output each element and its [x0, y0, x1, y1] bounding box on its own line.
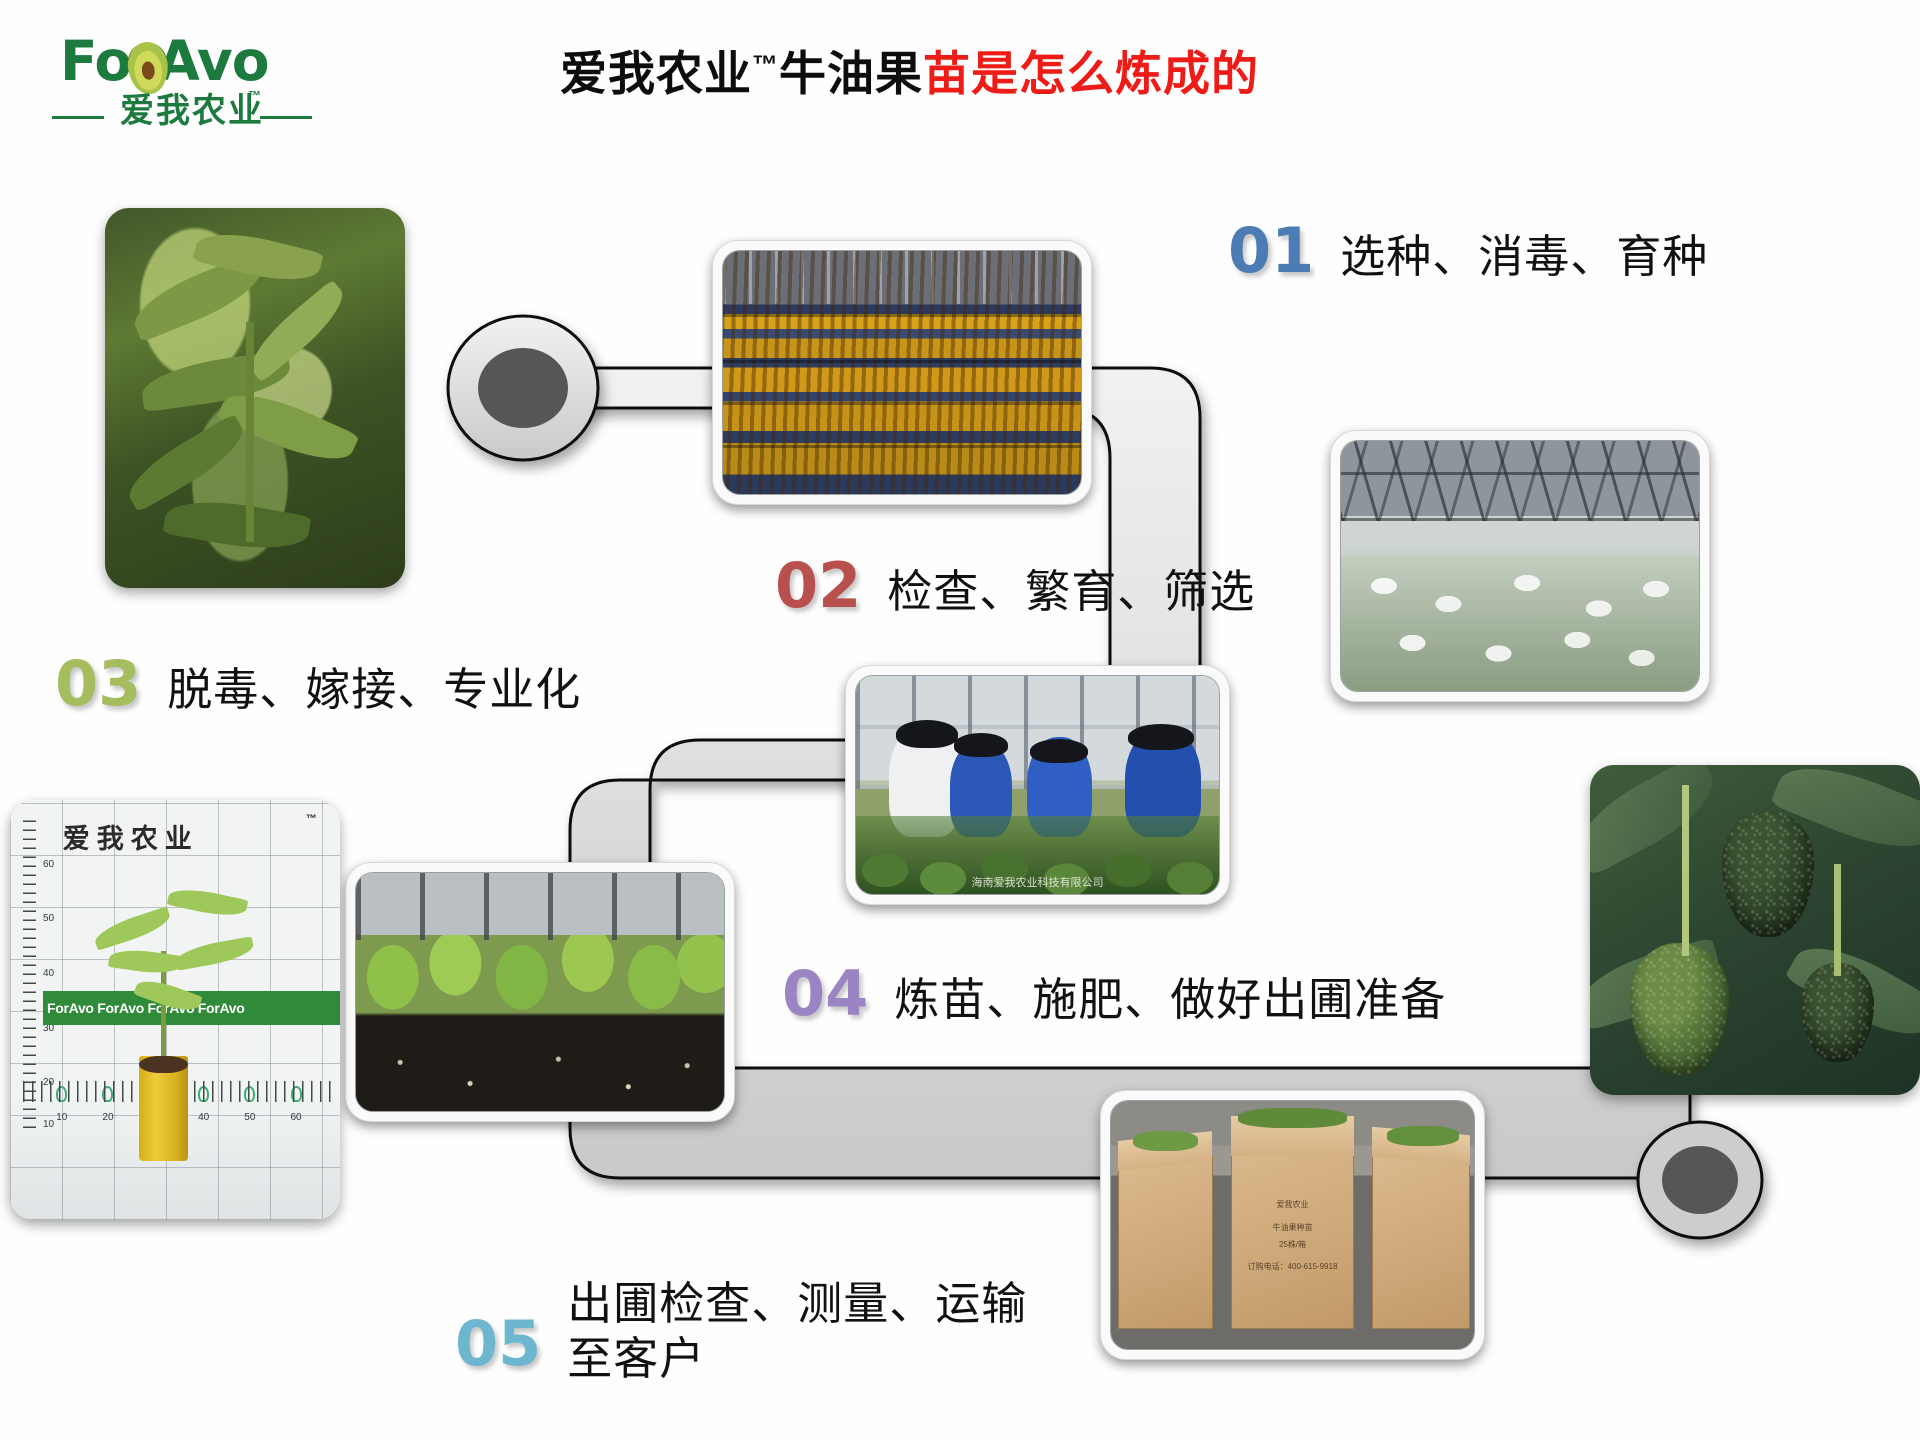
step-label-01: 01 选种、消毒、育种	[1228, 220, 1708, 285]
greenhouse-image	[1341, 441, 1699, 691]
seed-germination-trays-photo	[712, 240, 1092, 505]
board-brand-text: 爱我农业	[63, 817, 199, 856]
team-inspection-image: 海南爱我农业科技有限公司	[856, 676, 1219, 894]
step-label-02: 02 检查、繁育、筛选	[775, 555, 1255, 620]
infographic-canvas: ForAvo 爱我农业 ™ 爱我农业™牛油果苗是怎么炼成的	[0, 0, 1920, 1440]
nursery-pots-image	[356, 873, 724, 1111]
page-title: 爱我农业™牛油果苗是怎么炼成的	[560, 48, 1460, 100]
step-number-05: 05	[455, 1313, 541, 1375]
flowering-branch-image	[105, 208, 405, 588]
box-product-text: 牛油果种苗	[1111, 1223, 1474, 1234]
step-text-02: 检查、繁育、筛选	[887, 565, 1255, 620]
title-black-part-2: 牛油果	[779, 47, 923, 100]
logo-rule-left	[52, 116, 104, 119]
avocado-fruit-on-tree-photo	[1590, 765, 1920, 1095]
packing-boxes-image: 爱我农业 牛油果种苗 25株/箱 订购电话：400-615-9918	[1111, 1101, 1474, 1349]
seed-trays-image	[723, 251, 1081, 494]
seedling-pot	[139, 1056, 189, 1161]
packed-cartons-photo: 爱我农业 牛油果种苗 25株/箱 订购电话：400-615-9918	[1100, 1090, 1485, 1360]
team-inspecting-seedlings-photo: 海南爱我农业科技有限公司	[845, 665, 1230, 905]
process-start-marker	[448, 316, 598, 460]
box-brand-text: 爱我农业	[1111, 1200, 1474, 1211]
step-number-03: 03	[55, 653, 141, 715]
avocado-flowering-branch-photo	[105, 208, 405, 588]
step-text-05-line2: 至客户	[567, 1332, 1027, 1387]
logo-trademark-symbol: ™	[248, 88, 261, 103]
title-trademark-symbol: ™	[752, 49, 779, 79]
photo-watermark: 海南爱我农业科技有限公司	[972, 874, 1104, 890]
board-trademark-symbol: ™	[306, 813, 317, 825]
logo-rule-right	[260, 116, 312, 119]
step-text-05-line1: 出圃检查、测量、运输	[567, 1277, 1027, 1332]
avocado-fruit-image	[1590, 765, 1920, 1095]
greenhouse-grafted-seedlings-photo	[1330, 430, 1710, 702]
step-label-05: 05 出圃检查、测量、运输 至客户	[455, 1285, 1027, 1387]
step-number-02: 02	[775, 555, 861, 617]
step-text-01: 选种、消毒、育种	[1340, 230, 1708, 285]
box-quantity-text: 25株/箱	[1111, 1240, 1474, 1251]
step-label-04: 04 炼苗、施肥、做好出圃准备	[782, 963, 1446, 1028]
step-text-03: 脱毒、嫁接、专业化	[167, 663, 581, 718]
step-label-03: 03 脱毒、嫁接、专业化	[55, 653, 581, 718]
seedling-measurement-board-photo: 爱我农业 ™ 60 50 40 30 20 10 ForAvo ForAvo F…	[10, 800, 340, 1220]
brand-logo: ForAvo 爱我农业 ™	[48, 32, 328, 142]
nursery-potted-seedlings-photo	[345, 862, 735, 1122]
step-text-04: 炼苗、施肥、做好出圃准备	[894, 973, 1446, 1028]
measurement-board-image: 爱我农业 ™ 60 50 40 30 20 10 ForAvo ForAvo F…	[10, 800, 340, 1220]
box-phone-text: 订购电话：400-615-9918	[1111, 1262, 1474, 1273]
step-number-04: 04	[782, 963, 868, 1025]
title-black-part: 爱我农业	[560, 47, 752, 100]
title-red-part: 苗是怎么炼成的	[923, 47, 1259, 100]
process-end-marker	[1638, 1122, 1762, 1238]
logo-chinese-name: 爱我农业	[120, 94, 264, 128]
step-number-01: 01	[1228, 220, 1314, 282]
